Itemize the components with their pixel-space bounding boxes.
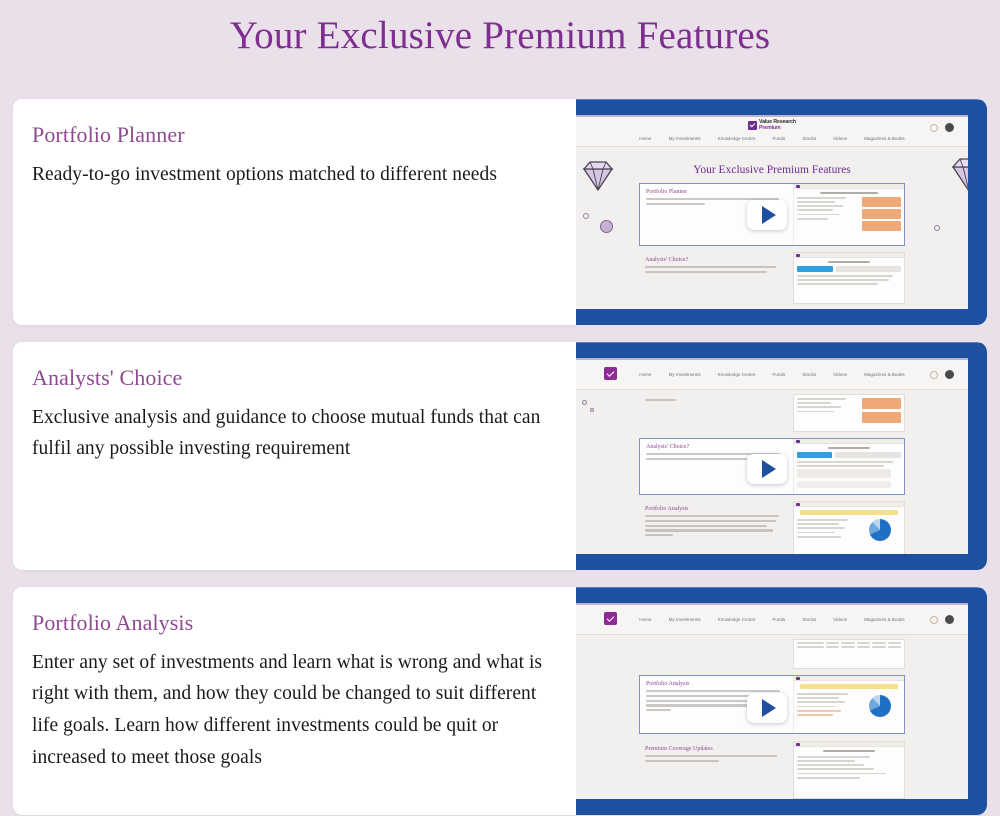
thumbnail-row-text: Portfolio Analysis [639, 501, 793, 554]
search-icon[interactable] [930, 616, 938, 624]
circle-decoration-icon [600, 220, 613, 233]
thumbnail-row-screenshot [793, 501, 905, 554]
thumbnail-row-screenshot [793, 252, 905, 304]
feature-card-text: Portfolio Analysis Enter any set of inve… [13, 587, 576, 815]
brand-tier: Premium [759, 125, 781, 131]
play-icon [762, 699, 776, 717]
thumbnail-row-screenshot [793, 639, 905, 669]
nav-item-home[interactable]: Home [639, 617, 651, 622]
user-account-icon[interactable] [945, 615, 954, 624]
mini-header-icons [930, 123, 954, 132]
thumbnail-inner-page: Home My Investments Knowledge Centre Fun… [576, 603, 968, 799]
user-account-icon[interactable] [945, 123, 954, 132]
nav-item-stocks[interactable]: Stocks [802, 372, 816, 377]
thumbnail-partial-row [639, 394, 905, 432]
thumbnail-feature-row[interactable]: Premium Coverage Updates [639, 741, 905, 799]
feature-card-thumbnail[interactable]: Home My Investments Knowledge Centre Fun… [576, 342, 987, 570]
feature-card-thumbnail[interactable]: Value Research Premium Home My Investmen… [576, 99, 987, 325]
mini-nav: Home My Investments Knowledge Centre Fun… [576, 136, 968, 141]
thumbnail-row-text [639, 639, 793, 669]
thumbnail-feature-row[interactable]: Portfolio Analysis [639, 501, 905, 554]
mini-nav: Home My Investments Knowledge Centre Fun… [576, 617, 968, 622]
thumbnail-row-heading: Portfolio Analysis [645, 506, 787, 512]
play-button[interactable] [747, 693, 787, 723]
feature-card-heading: Analysts' Choice [32, 364, 550, 392]
nav-item-home[interactable]: Home [639, 372, 651, 377]
brand-logo: Value Research Premium [748, 120, 796, 132]
circle-decoration-icon [582, 400, 587, 405]
thumbnail-inner-page: Value Research Premium Home My Investmen… [576, 115, 968, 309]
search-icon[interactable] [930, 371, 938, 379]
nav-item-home[interactable]: Home [639, 136, 651, 141]
mini-topbar: Home My Investments Knowledge Centre Fun… [576, 605, 968, 635]
thumbnail-row-screenshot [793, 184, 904, 245]
play-button[interactable] [747, 454, 787, 484]
nav-item-magazines-books[interactable]: Magazines & Books [864, 372, 905, 377]
mini-topbar: Value Research Premium Home My Investmen… [576, 117, 968, 147]
nav-item-funds[interactable]: Funds [773, 136, 786, 141]
thumbnail-row-text: Premium Coverage Updates [639, 741, 793, 799]
feature-card-text: Analysts' Choice Exclusive analysis and … [13, 342, 576, 570]
nav-item-funds[interactable]: Funds [773, 617, 786, 622]
nav-item-videos[interactable]: Videos [833, 136, 847, 141]
play-icon [762, 460, 776, 478]
nav-item-knowledge-centre[interactable]: Knowledge Centre [718, 136, 756, 141]
thumbnail-row-text: Analysts' Choice? [639, 252, 793, 304]
thumbnail-row-text [639, 394, 793, 432]
thumbnail-inner-page: Home My Investments Knowledge Centre Fun… [576, 358, 968, 554]
feature-card-text: Portfolio Planner Ready-to-go investment… [13, 99, 576, 325]
checkbox-logo-icon [748, 121, 757, 130]
feature-card[interactable]: Portfolio Planner Ready-to-go investment… [13, 99, 987, 325]
nav-item-my-investments[interactable]: My Investments [669, 136, 701, 141]
nav-item-stocks[interactable]: Stocks [802, 136, 816, 141]
feature-card-heading: Portfolio Analysis [32, 609, 550, 637]
mini-header-icons [930, 370, 954, 379]
nav-item-magazines-books[interactable]: Magazines & Books [864, 617, 905, 622]
thumbnail-row-screenshot [793, 439, 904, 494]
nav-item-videos[interactable]: Videos [833, 617, 847, 622]
nav-item-magazines-books[interactable]: Magazines & Books [864, 136, 905, 141]
thumbnail-row-heading: Portfolio Planner [646, 189, 787, 195]
feature-card[interactable]: Portfolio Analysis Enter any set of inve… [13, 587, 987, 815]
user-account-icon[interactable] [945, 370, 954, 379]
feature-card-list: Portfolio Planner Ready-to-go investment… [13, 99, 987, 816]
circle-decoration-icon [934, 225, 940, 231]
thumbnail-inner-title: Your Exclusive Premium Features [576, 164, 968, 176]
mini-topbar: Home My Investments Knowledge Centre Fun… [576, 360, 968, 390]
thumbnail-row-heading: Analysts' Choice? [646, 444, 787, 450]
search-icon[interactable] [930, 124, 938, 132]
feature-card[interactable]: Analysts' Choice Exclusive analysis and … [13, 342, 987, 570]
page-title: Your Exclusive Premium Features [0, 0, 1000, 61]
nav-item-funds[interactable]: Funds [773, 372, 786, 377]
thumbnail-row-screenshot [793, 394, 905, 432]
thumbnail-row-heading: Analysts' Choice? [645, 257, 787, 263]
mini-header-icons [930, 615, 954, 624]
thumbnail-row-screenshot [793, 676, 904, 733]
thumbnail-row-heading: Portfolio Analysis [646, 681, 787, 687]
nav-item-videos[interactable]: Videos [833, 372, 847, 377]
nav-item-my-investments[interactable]: My Investments [669, 372, 701, 377]
thumbnail-row-heading: Premium Coverage Updates [645, 746, 787, 752]
circle-decoration-icon [583, 213, 589, 219]
feature-card-description: Exclusive analysis and guidance to choos… [32, 402, 550, 466]
feature-card-description: Ready-to-go investment options matched t… [32, 159, 550, 191]
thumbnail-feature-row[interactable]: Analysts' Choice? [639, 252, 905, 304]
play-button[interactable] [747, 200, 787, 230]
thumbnail-partial-row [639, 639, 905, 669]
nav-item-my-investments[interactable]: My Investments [669, 617, 701, 622]
feature-card-description: Enter any set of investments and learn w… [32, 647, 550, 775]
thumbnail-row-screenshot [793, 741, 905, 799]
play-icon [762, 206, 776, 224]
nav-item-knowledge-centre[interactable]: Knowledge Centre [718, 617, 756, 622]
circle-decoration-icon [590, 408, 594, 412]
nav-item-knowledge-centre[interactable]: Knowledge Centre [718, 372, 756, 377]
feature-card-thumbnail[interactable]: Home My Investments Knowledge Centre Fun… [576, 587, 987, 815]
nav-item-stocks[interactable]: Stocks [802, 617, 816, 622]
feature-card-heading: Portfolio Planner [32, 121, 550, 149]
mini-nav: Home My Investments Knowledge Centre Fun… [576, 372, 968, 377]
